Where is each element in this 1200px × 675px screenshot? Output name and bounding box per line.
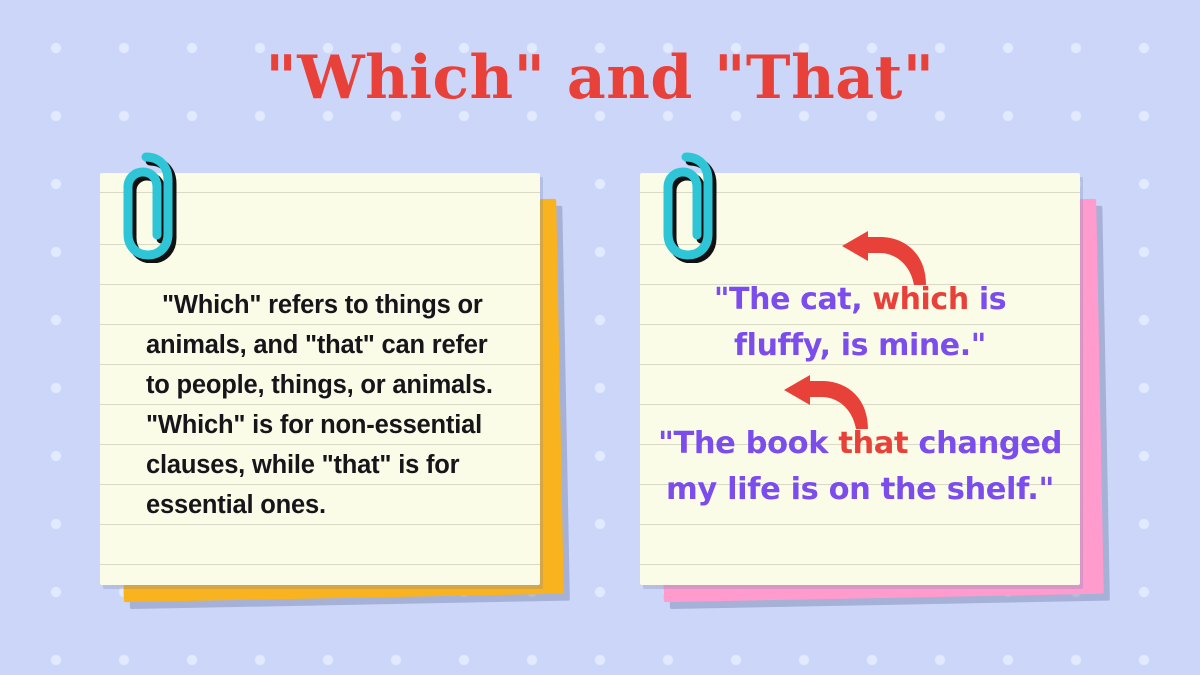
example-sentence-1: "The cat, which is fluffy, is mine." <box>640 277 1080 369</box>
example-sentence-2: "The book that changed my life is on the… <box>640 421 1080 513</box>
definition-card: "Which" refers to things or animals, and… <box>92 165 562 610</box>
slide-canvas: "Which" and "That" "Which" refers to thi… <box>0 0 1200 675</box>
examples-card: "The cat, which is fluffy, is mine." "Th… <box>632 165 1102 610</box>
definition-text: "Which" refers to things or animals, and… <box>146 285 504 525</box>
page-title: "Which" and "That" <box>0 48 1200 108</box>
example-2-before: "The book <box>658 426 838 461</box>
example-1-before: "The cat, <box>714 282 872 317</box>
example-2-highlight: that <box>838 426 908 461</box>
example-1-highlight: which <box>872 282 969 317</box>
paperclip-icon <box>106 151 188 263</box>
paperclip-icon <box>646 151 728 263</box>
